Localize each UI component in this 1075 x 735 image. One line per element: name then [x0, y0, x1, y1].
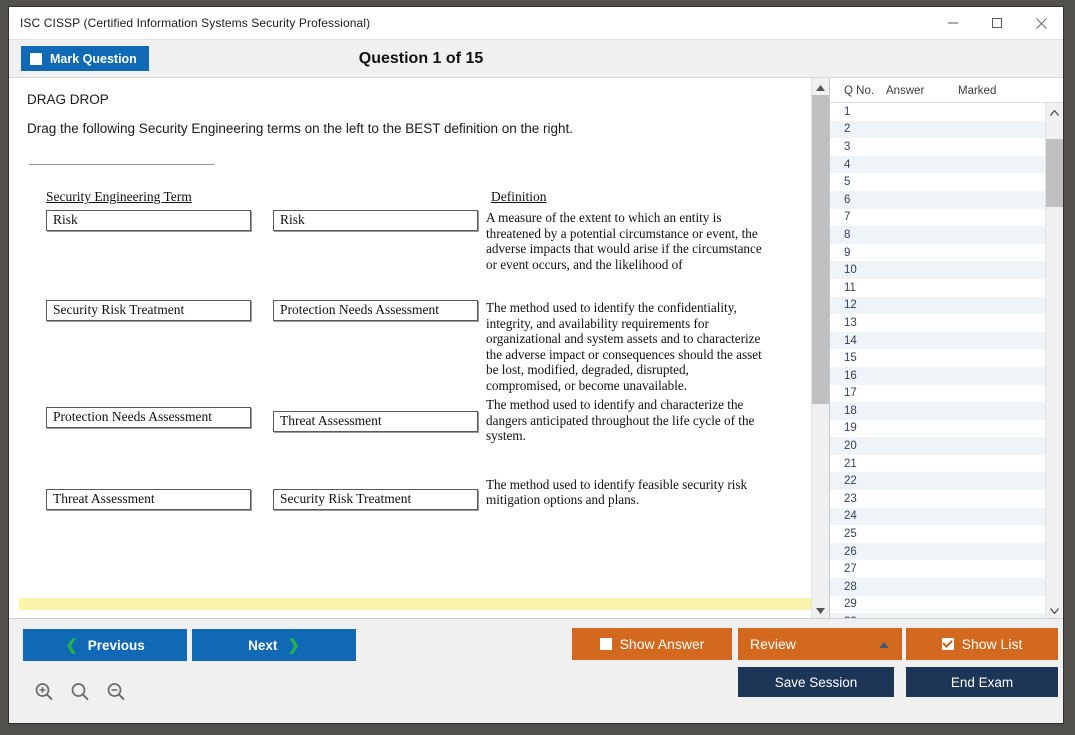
- question-number: 18: [844, 405, 886, 417]
- close-button[interactable]: [1019, 7, 1063, 39]
- caret-down-icon: [1050, 601, 1059, 619]
- question-list-row[interactable]: 12: [830, 297, 1046, 315]
- question-list-row[interactable]: 6: [830, 191, 1046, 209]
- question-list-row[interactable]: 4: [830, 156, 1046, 174]
- question-list-row[interactable]: 26: [830, 543, 1046, 561]
- question-type-label: DRAG DROP: [27, 92, 815, 107]
- previous-button[interactable]: ❮ Previous: [23, 629, 187, 661]
- zoom-controls: [33, 681, 127, 708]
- chevron-left-icon: ❮: [65, 636, 78, 654]
- scroll-down-button[interactable]: [812, 601, 829, 618]
- drag-drop-row: Threat Assessment Security Risk Treatmen…: [27, 489, 815, 510]
- question-list-row[interactable]: 8: [830, 226, 1046, 244]
- show-list-button[interactable]: Show List: [906, 628, 1058, 660]
- divider: [29, 164, 215, 165]
- question-list-row[interactable]: 24: [830, 508, 1046, 526]
- page-title: Question 1 of 15: [9, 50, 1063, 68]
- question-number: 6: [844, 194, 886, 206]
- drag-drop-headers: Security Engineering Term Definition: [27, 189, 815, 205]
- term-drop-box[interactable]: Security Risk Treatment: [273, 489, 478, 510]
- question-number: 12: [844, 299, 886, 311]
- question-list-body: 1234567891011121314151617181920212223242…: [830, 103, 1063, 618]
- term-drop-cell: Protection Needs Assessment: [273, 300, 477, 321]
- zoom-out-icon[interactable]: [105, 681, 127, 708]
- question-list-row[interactable]: 14: [830, 332, 1046, 350]
- chevron-up-icon: [878, 636, 890, 652]
- scrollbar-thumb[interactable]: [812, 95, 829, 404]
- question-list-row[interactable]: 1: [830, 103, 1046, 121]
- question-number: 17: [844, 387, 886, 399]
- show-answer-label: Show Answer: [620, 636, 705, 652]
- question-number: 5: [844, 176, 886, 188]
- window-title: ISC CISSP (Certified Information Systems…: [9, 16, 370, 30]
- question-list-row[interactable]: 7: [830, 209, 1046, 227]
- show-answer-checkbox[interactable]: [600, 638, 612, 650]
- maximize-icon: [991, 17, 1003, 29]
- question-list-row[interactable]: 10: [830, 261, 1046, 279]
- next-button[interactable]: Next ❯: [192, 629, 356, 661]
- question-number: 15: [844, 352, 886, 364]
- scroll-up-button[interactable]: [812, 78, 829, 95]
- save-session-button[interactable]: Save Session: [738, 667, 894, 697]
- question-list-rows: 1234567891011121314151617181920212223242…: [830, 103, 1046, 618]
- scrollbar-track[interactable]: [812, 95, 829, 601]
- mark-question-label: Mark Question: [50, 52, 137, 66]
- show-list-checkbox[interactable]: [942, 638, 954, 650]
- term-source-box[interactable]: Threat Assessment: [46, 489, 251, 510]
- save-session-label: Save Session: [775, 675, 858, 690]
- exam-window: ISC CISSP (Certified Information Systems…: [8, 6, 1064, 724]
- question-number: 13: [844, 317, 886, 329]
- question-list-row[interactable]: 23: [830, 490, 1046, 508]
- question-header-bar: Mark Question Question 1 of 15: [9, 39, 1063, 78]
- question-list-row[interactable]: 11: [830, 279, 1046, 297]
- question-list-row[interactable]: 28: [830, 578, 1046, 596]
- drag-drop-row: Protection Needs Assessment Threat Asses…: [27, 407, 815, 444]
- question-list-row[interactable]: 13: [830, 314, 1046, 332]
- question-number: 16: [844, 370, 886, 382]
- mark-question-checkbox[interactable]: [30, 53, 42, 65]
- window-controls: [931, 7, 1063, 39]
- question-list-row[interactable]: 21: [830, 455, 1046, 473]
- question-number: 2: [844, 123, 886, 135]
- question-list-row[interactable]: 17: [830, 385, 1046, 403]
- mark-question-button[interactable]: Mark Question: [21, 46, 149, 71]
- drag-drop-row: Security Risk Treatment Protection Needs…: [27, 300, 815, 393]
- definition-text: A measure of the extent to which an enti…: [486, 210, 762, 272]
- previous-label: Previous: [88, 638, 145, 653]
- question-list-row[interactable]: 19: [830, 420, 1046, 438]
- screenshot-root: ISC CISSP (Certified Information Systems…: [0, 0, 1075, 735]
- question-number: 22: [844, 475, 886, 487]
- question-list-row[interactable]: 16: [830, 367, 1046, 385]
- term-source-cell: Threat Assessment: [46, 489, 260, 510]
- question-number: 25: [844, 528, 886, 540]
- question-number: 23: [844, 493, 886, 505]
- definition-cell: The method used to identify the confiden…: [486, 300, 762, 393]
- question-number: 24: [844, 510, 886, 522]
- zoom-reset-icon[interactable]: [69, 681, 91, 708]
- question-list-row[interactable]: 5: [830, 173, 1046, 191]
- question-list-pane: Q No. Answer Marked 12345678910111213141…: [829, 78, 1063, 618]
- question-number: 3: [844, 141, 886, 153]
- list-scrollbar[interactable]: [1045, 103, 1063, 618]
- question-number: 27: [844, 563, 886, 575]
- zoom-in-icon[interactable]: [33, 681, 55, 708]
- question-number: 10: [844, 264, 886, 276]
- question-number: 19: [844, 422, 886, 434]
- column-header-answer: Answer: [886, 85, 958, 97]
- question-content-pane: DRAG DROP Drag the following Security En…: [9, 78, 829, 618]
- chevron-right-icon: ❯: [287, 636, 300, 654]
- drag-drop-table: Security Engineering Term Definition Ris…: [27, 189, 815, 510]
- question-number: 4: [844, 159, 886, 171]
- next-label: Next: [248, 638, 277, 653]
- minimize-button[interactable]: [931, 7, 975, 39]
- question-number: 28: [844, 581, 886, 593]
- question-list-row[interactable]: 3: [830, 138, 1046, 156]
- term-source-box[interactable]: Protection Needs Assessment: [46, 407, 251, 428]
- review-dropdown[interactable]: Review: [738, 628, 902, 660]
- question-number: 26: [844, 546, 886, 558]
- caret-up-icon: [1050, 103, 1059, 121]
- term-source-box[interactable]: Risk: [46, 210, 251, 231]
- minimize-icon: [947, 17, 959, 29]
- question-list-row[interactable]: 27: [830, 560, 1046, 578]
- question-list-header: Q No. Answer Marked: [830, 78, 1063, 103]
- question-number: 1: [844, 106, 886, 118]
- column-header-q-no: Q No.: [830, 85, 886, 97]
- question-number: 21: [844, 458, 886, 470]
- review-label: Review: [750, 636, 796, 652]
- question-instruction: Drag the following Security Engineering …: [27, 121, 815, 136]
- question-number: 11: [844, 282, 886, 294]
- definition-column-header: Definition: [491, 189, 547, 205]
- close-icon: [1035, 17, 1048, 30]
- question-list-row[interactable]: 15: [830, 349, 1046, 367]
- caret-up-icon: [816, 78, 825, 96]
- caret-down-icon: [816, 601, 825, 619]
- show-answer-button[interactable]: Show Answer: [572, 628, 732, 660]
- drag-drop-row: Risk Risk A measure of the extent to whi…: [27, 210, 815, 272]
- question-number: 7: [844, 211, 886, 223]
- question-list-row[interactable]: 22: [830, 472, 1046, 490]
- question-list-row[interactable]: 2: [830, 121, 1046, 139]
- list-scroll-down-button[interactable]: [1046, 601, 1063, 618]
- content-scrollbar[interactable]: [811, 78, 829, 618]
- list-scrollbar-track[interactable]: [1046, 120, 1063, 601]
- definition-text: The method used to identify the confiden…: [486, 300, 762, 393]
- term-drop-cell: Security Risk Treatment: [273, 489, 477, 510]
- title-bar: ISC CISSP (Certified Information Systems…: [9, 7, 1063, 39]
- term-drop-box[interactable]: Protection Needs Assessment: [273, 300, 478, 321]
- question-number: 9: [844, 247, 886, 259]
- footer-toolbar: ❮ Previous Next ❯ Show Answ: [9, 618, 1063, 723]
- question-number: 8: [844, 229, 886, 241]
- term-source-box[interactable]: Security Risk Treatment: [46, 300, 251, 321]
- body-area: DRAG DROP Drag the following Security En…: [9, 78, 1063, 618]
- term-drop-box[interactable]: Risk: [273, 210, 478, 231]
- column-header-marked: Marked: [958, 85, 1063, 97]
- question-list-row[interactable]: 9: [830, 244, 1046, 262]
- definition-cell: The method used to identify feasible sec…: [486, 477, 762, 508]
- term-source-cell: Risk: [46, 210, 260, 231]
- definition-cell: The method used to identify and characte…: [486, 397, 762, 444]
- term-column-header: Security Engineering Term: [46, 189, 261, 205]
- show-list-label: Show List: [962, 636, 1023, 652]
- term-source-cell: Protection Needs Assessment: [46, 407, 260, 428]
- question-list-row[interactable]: 18: [830, 402, 1046, 420]
- maximize-button[interactable]: [975, 7, 1019, 39]
- question-number: 29: [844, 598, 886, 610]
- question-list-row[interactable]: 29: [830, 596, 1046, 614]
- term-source-cell: Security Risk Treatment: [46, 300, 260, 321]
- term-drop-box[interactable]: Threat Assessment: [273, 411, 478, 432]
- definition-text: The method used to identify feasible sec…: [486, 477, 762, 508]
- end-exam-label: End Exam: [951, 675, 1013, 690]
- question-content: DRAG DROP Drag the following Security En…: [9, 78, 829, 618]
- highlight-bar: [19, 598, 815, 610]
- end-exam-button[interactable]: End Exam: [906, 667, 1058, 697]
- question-list-row[interactable]: 25: [830, 525, 1046, 543]
- term-drop-cell: Risk: [273, 210, 477, 231]
- definition-text: The method used to identify and characte…: [486, 397, 762, 444]
- question-list-row[interactable]: 20: [830, 437, 1046, 455]
- list-scroll-up-button[interactable]: [1046, 103, 1063, 120]
- question-number: 20: [844, 440, 886, 452]
- term-drop-cell: Threat Assessment: [273, 407, 477, 432]
- definition-cell: A measure of the extent to which an enti…: [486, 210, 762, 272]
- question-number: 14: [844, 335, 886, 347]
- list-scrollbar-thumb[interactable]: [1046, 139, 1063, 206]
